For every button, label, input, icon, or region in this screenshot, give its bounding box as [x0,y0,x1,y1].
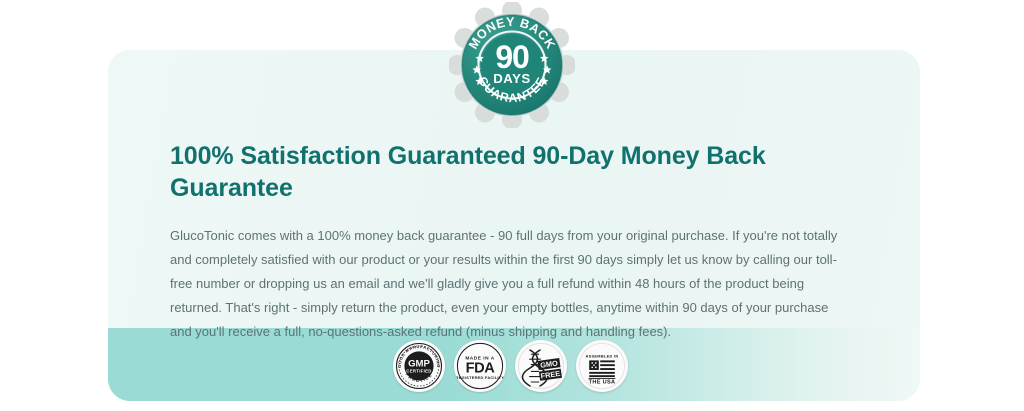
svg-text:REGISTERED FACILITY: REGISTERED FACILITY [456,375,505,380]
svg-text:FDA: FDA [466,361,496,377]
page-title: 100% Satisfaction Guaranteed 90-Day Mone… [170,140,860,204]
assembled-in-usa-icon: ASSEMBLED IN [576,340,628,392]
svg-text:THE USA: THE USA [589,380,616,386]
certification-badge-row: GOOD MANUFACTURING PRACTICE GMP CERTIFIE… [393,340,628,392]
money-back-guarantee-seal-icon: MONEY BACK GUARANTEE [449,2,575,128]
seal-number: 90 [495,39,529,75]
guarantee-text-block: 100% Satisfaction Guaranteed 90-Day Mone… [170,140,860,344]
fda-registered-icon: MADE IN A FDA REGISTERED FACILITY [454,340,506,392]
svg-text:ASSEMBLED IN: ASSEMBLED IN [586,354,619,359]
gmo-free-icon: GMO FREE [515,340,567,392]
seal-unit: DAYS [493,71,530,86]
svg-text:CERTIFIED: CERTIFIED [406,368,431,373]
guarantee-description: GlucoTonic comes with a 100% money back … [170,224,848,344]
gmp-certified-icon: GOOD MANUFACTURING PRACTICE GMP CERTIFIE… [393,340,445,392]
